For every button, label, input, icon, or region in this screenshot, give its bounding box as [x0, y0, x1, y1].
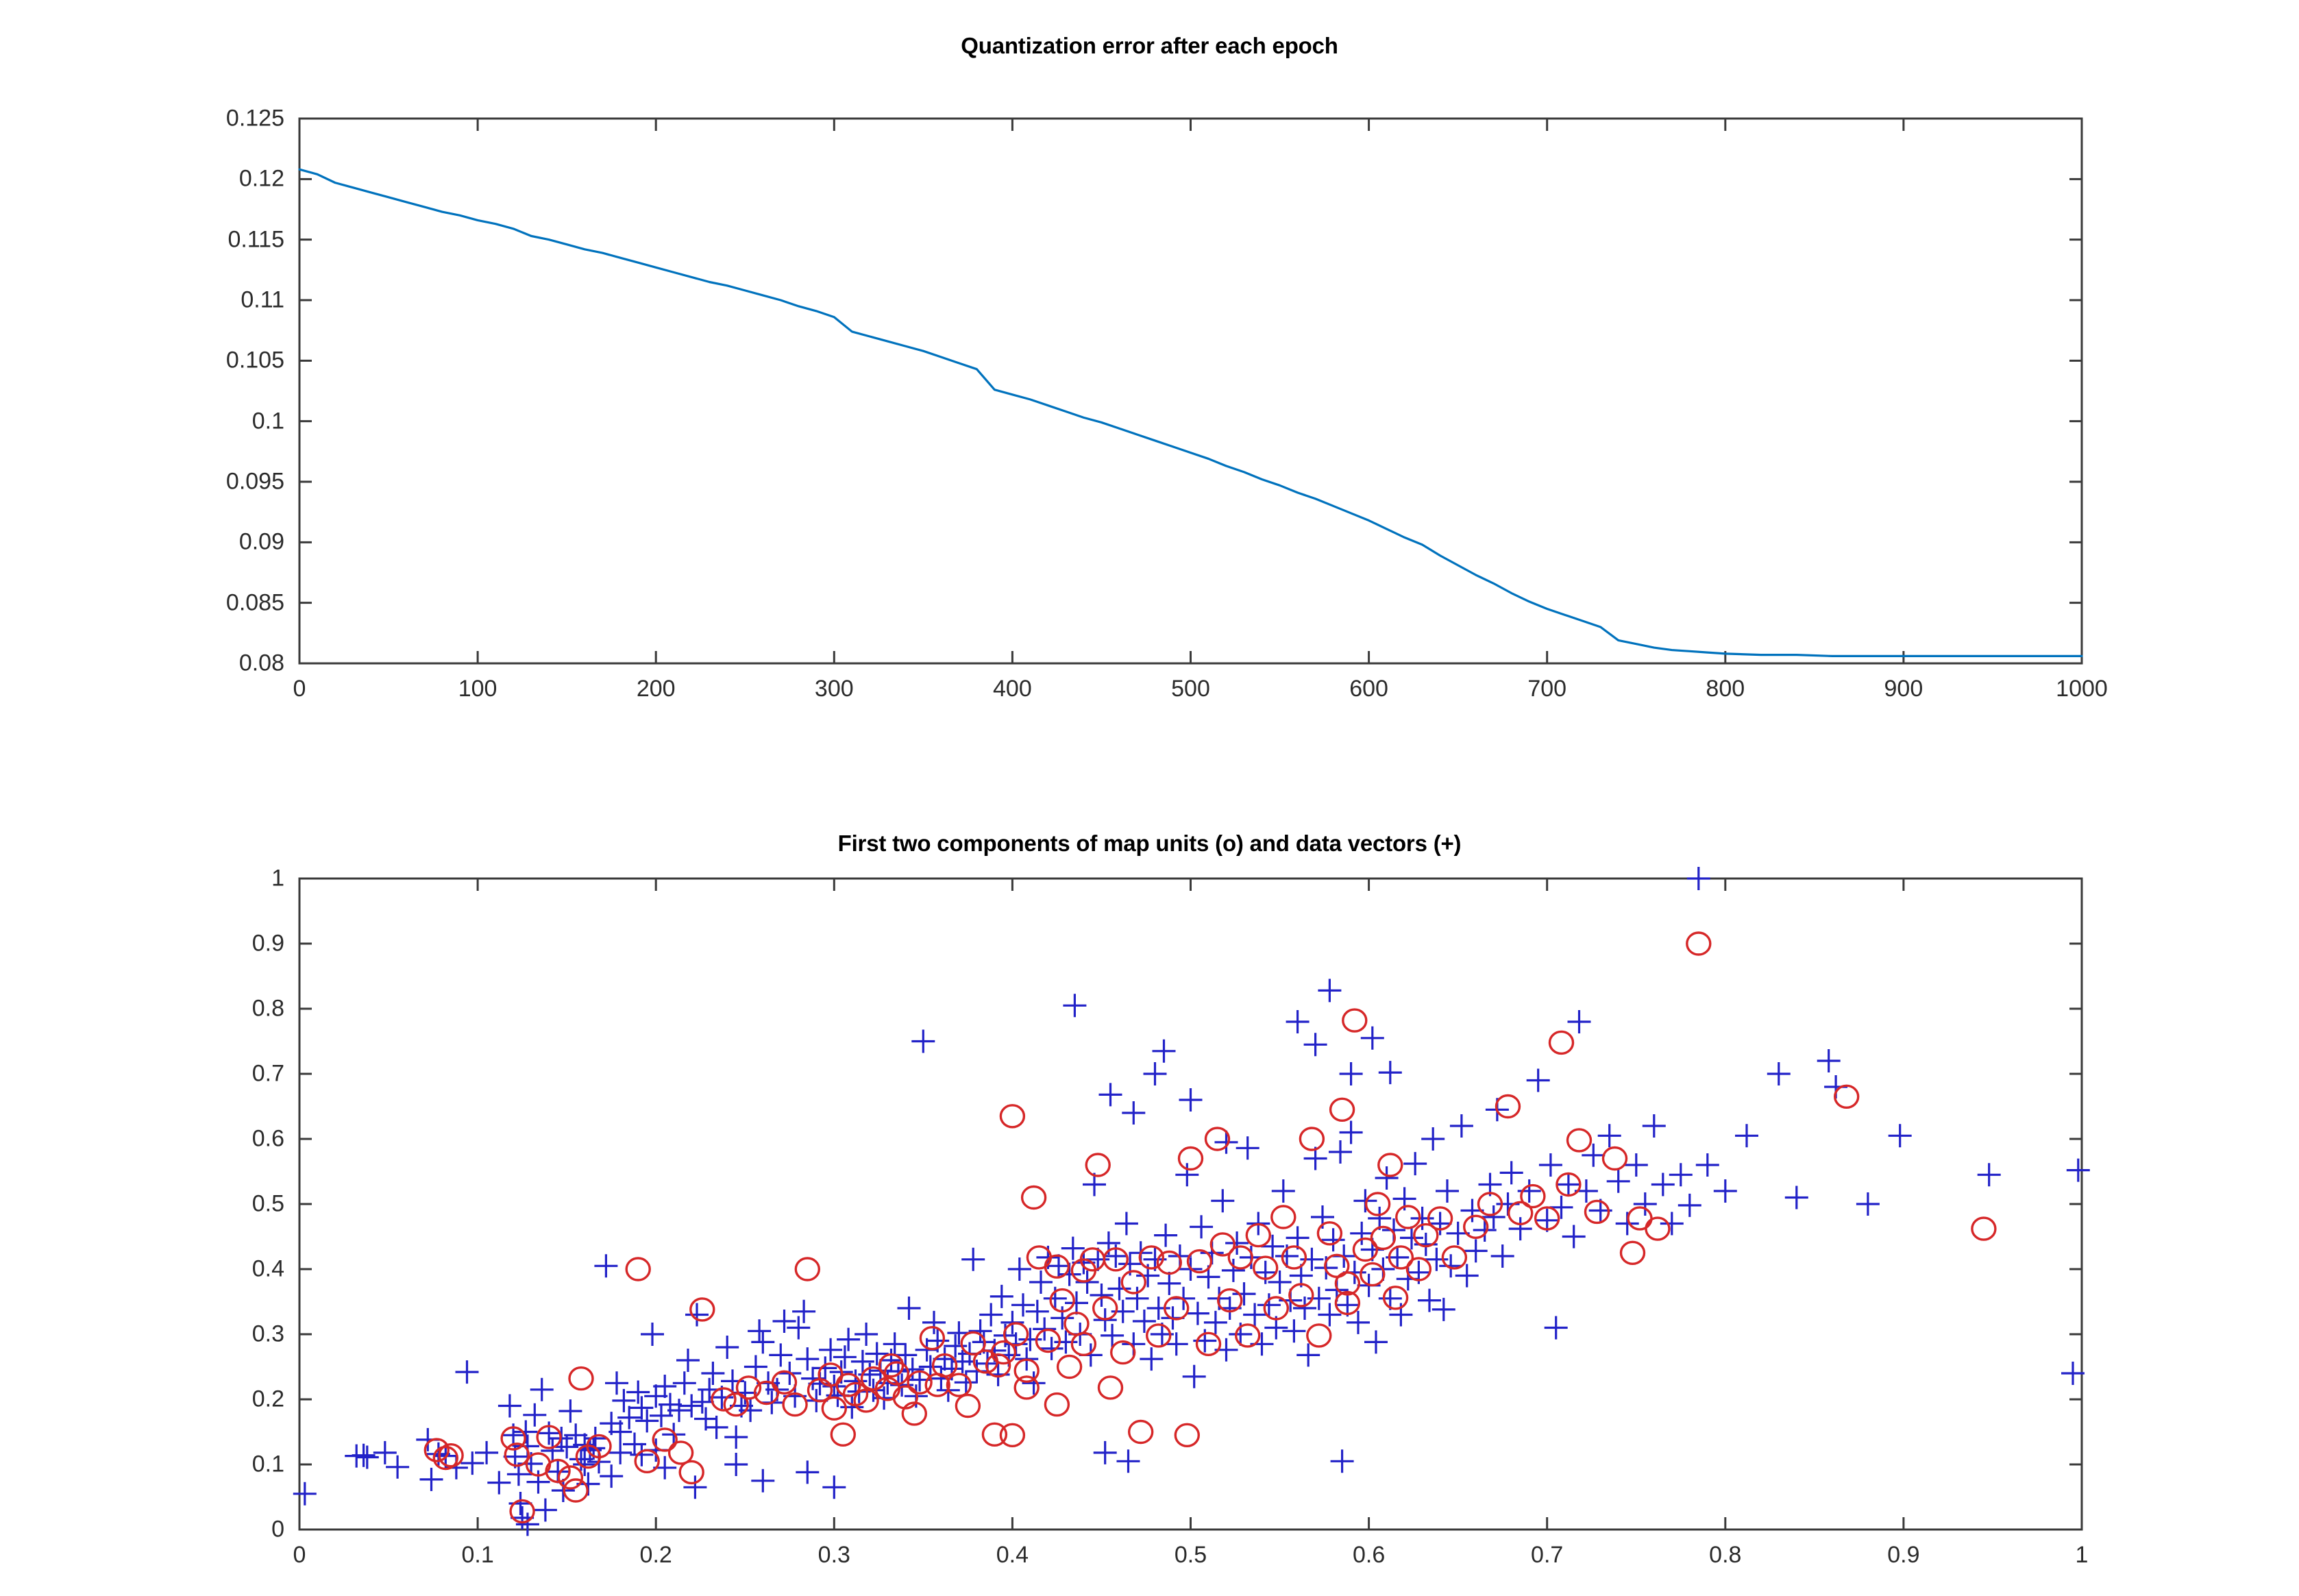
- x-tick-label: 800: [1706, 676, 1745, 702]
- x-tick-label: 0.9: [1887, 1542, 1919, 1569]
- y-tick-label: 0.115: [0, 226, 284, 253]
- y-tick-label: 0.095: [0, 469, 284, 495]
- y-tick-label: 0.105: [0, 347, 284, 374]
- data-vector-markers: [293, 867, 2090, 1536]
- quantization-error-plot: Quantization error after each epoch 0100…: [0, 0, 2299, 726]
- x-tick-label: 0: [293, 1542, 306, 1569]
- plot-frame: [299, 879, 2082, 1530]
- x-tick-label: 0.5: [1175, 1542, 1207, 1569]
- x-tick-label: 0.8: [1709, 1542, 1741, 1569]
- map-units-scatter-plot: First two components of map units (o) an…: [0, 795, 2299, 1596]
- x-tick-label: 1: [2076, 1542, 2089, 1569]
- y-tick-label: 0.1: [0, 408, 284, 434]
- x-tick-label: 0.7: [1531, 1542, 1563, 1569]
- y-tick-label: 0.11: [0, 287, 284, 314]
- x-tick-label: 1000: [2056, 676, 2108, 702]
- plot-frame: [299, 119, 2082, 663]
- y-tick-label: 0.8: [0, 996, 284, 1022]
- y-tick-label: 0.6: [0, 1126, 284, 1153]
- quantization-error-axes: [0, 0, 2299, 726]
- y-tick-label: 0.9: [0, 931, 284, 957]
- x-tick-label: 0.6: [1353, 1542, 1385, 1569]
- x-tick-label: 100: [458, 676, 497, 702]
- y-tick-label: 0.1: [0, 1451, 284, 1478]
- y-tick-label: 0.085: [0, 589, 284, 616]
- y-tick-label: 0.125: [0, 106, 284, 132]
- x-tick-label: 200: [637, 676, 676, 702]
- x-tick-label: 400: [993, 676, 1032, 702]
- y-tick-label: 0.3: [0, 1321, 284, 1348]
- y-tick-label: 0.7: [0, 1061, 284, 1088]
- x-tick-label: 0.4: [996, 1542, 1029, 1569]
- y-tick-label: 0.4: [0, 1256, 284, 1283]
- x-tick-label: 0.3: [818, 1542, 850, 1569]
- y-tick-label: 0: [0, 1517, 284, 1543]
- line-series: [299, 169, 2082, 656]
- x-tick-label: 300: [815, 676, 854, 702]
- x-tick-label: 900: [1884, 676, 1923, 702]
- x-tick-label: 500: [1171, 676, 1210, 702]
- y-tick-label: 0.09: [0, 529, 284, 556]
- y-tick-label: 1: [0, 865, 284, 892]
- x-tick-label: 0.1: [461, 1542, 493, 1569]
- map-units-scatter-axes: [0, 795, 2299, 1596]
- y-tick-label: 0.12: [0, 166, 284, 193]
- x-tick-label: 600: [1349, 676, 1388, 702]
- y-tick-label: 0.08: [0, 650, 284, 677]
- figure-canvas: Quantization error after each epoch 0100…: [0, 0, 2299, 1596]
- x-tick-label: 700: [1527, 676, 1566, 702]
- x-tick-label: 0: [293, 676, 306, 702]
- y-tick-label: 0.5: [0, 1191, 284, 1218]
- x-tick-label: 0.2: [640, 1542, 672, 1569]
- y-tick-label: 0.2: [0, 1386, 284, 1413]
